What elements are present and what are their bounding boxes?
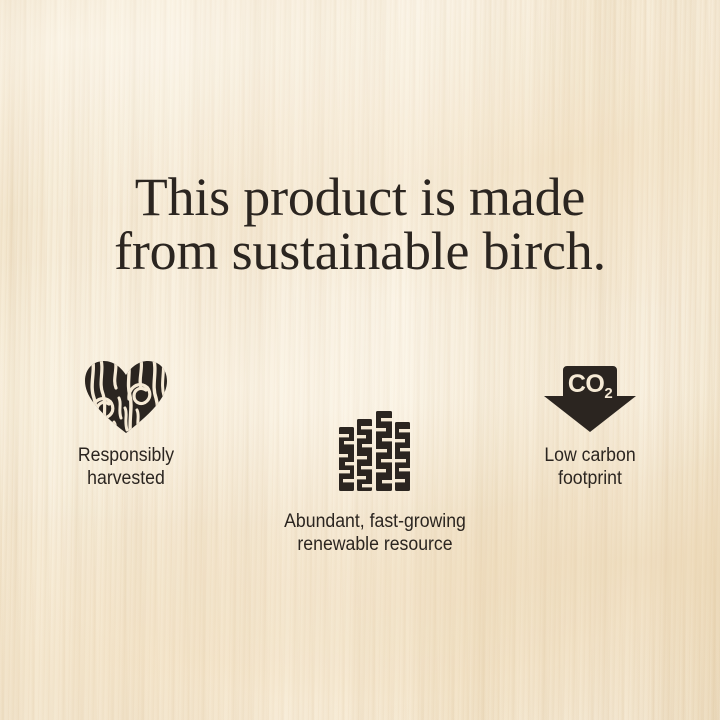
badge-caption: Responsibly harvested <box>42 444 209 490</box>
badge-responsibly-harvested: Responsibly harvested <box>36 360 216 490</box>
icon-container: CO2 <box>495 360 685 434</box>
icon-container <box>275 410 475 492</box>
badge-caption: Low carbon footprint <box>502 444 679 490</box>
poster-canvas: This product is made from sustainable bi… <box>0 0 720 720</box>
badge-renewable-resource: Abundant, fast-growing renewable resourc… <box>275 410 475 556</box>
icon-container <box>36 360 216 434</box>
co2-down-arrow-icon: CO2 <box>541 364 639 434</box>
page-title: This product is made from sustainable bi… <box>0 170 720 278</box>
badge-low-carbon-footprint: CO2 Low carbon footprint <box>495 360 685 490</box>
badge-caption: Abundant, fast-growing renewable resourc… <box>282 510 468 556</box>
wood-grain-heart-icon <box>83 360 169 434</box>
birch-trunks-icon <box>338 410 412 492</box>
